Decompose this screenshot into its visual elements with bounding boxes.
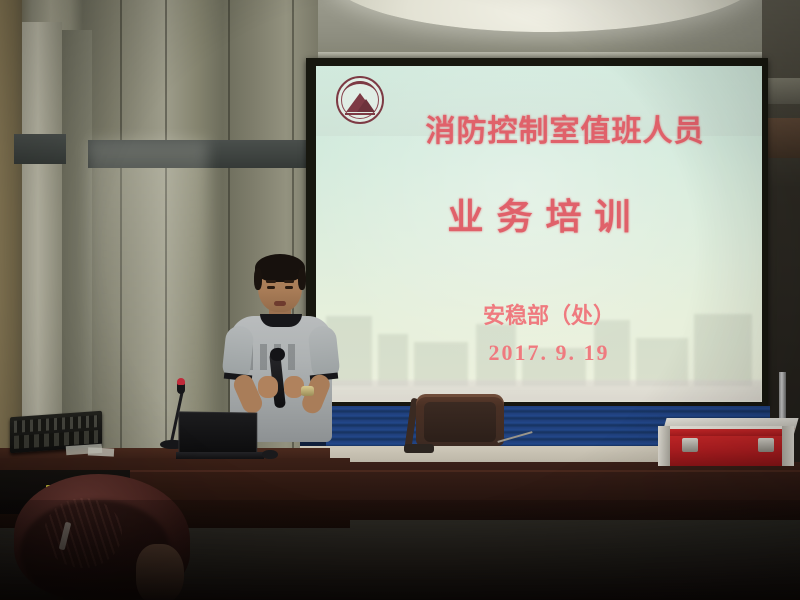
bottom-shadow xyxy=(0,500,800,600)
slide-title-line-1: 消防控制室值班人员 xyxy=(316,106,762,150)
laptop-screen xyxy=(178,411,257,456)
chair-base xyxy=(404,444,434,453)
gooseneck-microphone-tip xyxy=(177,378,185,385)
presenter-collar xyxy=(260,314,302,327)
case-latch-left xyxy=(682,438,698,452)
wall-column-outer xyxy=(0,0,22,470)
chair-backrest-pad xyxy=(424,402,496,442)
computer-mouse xyxy=(262,450,278,459)
red-flight-case xyxy=(658,418,794,466)
meeting-room-photo: 消防控制室值班人员 业务培训 安稳部（处） 2017. 9. 19 xyxy=(0,0,800,600)
presenter-hand-left xyxy=(258,376,278,398)
slide-title-line-2: 业务培训 xyxy=(316,188,762,240)
laptop-base xyxy=(176,452,264,459)
wall-band-left xyxy=(14,134,66,164)
desk-paper xyxy=(88,447,114,456)
wall-column-inner xyxy=(22,22,62,470)
wristwatch xyxy=(301,386,314,396)
projection-screen: 消防控制室值班人员 业务培训 安稳部（处） 2017. 9. 19 xyxy=(316,66,762,402)
slide-date: 2017. 9. 19 xyxy=(316,340,762,366)
case-latch-right xyxy=(758,438,774,452)
slide-department: 安稳部（处） xyxy=(316,298,762,330)
